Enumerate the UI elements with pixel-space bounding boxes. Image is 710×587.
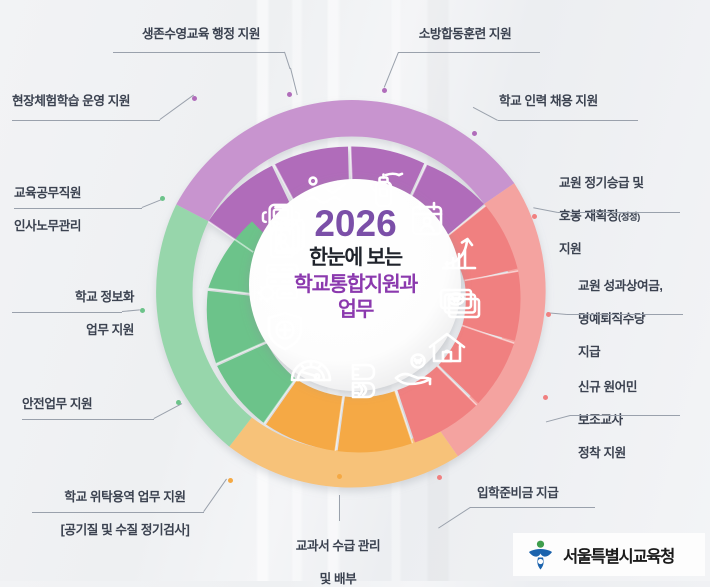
leader-dot-10 xyxy=(176,400,181,405)
leader-dot-1 xyxy=(287,92,292,97)
label-9-line2: [공기질 및 수질 정기검사] xyxy=(61,523,190,537)
label-12-line2: 인사노무관리 xyxy=(14,219,81,233)
label-textbook-supply: 교과서 수급 관리 및 배부 xyxy=(253,521,423,587)
logo-text: 서울특별시교육청 xyxy=(563,543,674,567)
label-5-line3: 지급 xyxy=(578,345,600,359)
label-safety-work: 안전업무 지원 xyxy=(22,396,162,413)
label-4-line2: 호봉 재획정 xyxy=(559,209,618,223)
leader-dot-7 xyxy=(437,475,442,480)
leader-line-10 xyxy=(22,419,154,420)
leader-line-8 xyxy=(339,495,340,521)
leader-dot-13 xyxy=(192,96,197,101)
leader-dot-11 xyxy=(140,308,145,313)
label-swimming-education: 생존수영교육 행정 지원 xyxy=(103,26,299,43)
label-6-line3: 정착 지원 xyxy=(578,446,626,460)
label-teacher-bonus: 교원 성과상여금, 명예퇴직수당 지급 xyxy=(578,261,710,361)
label-school-staff-hiring: 학교 인력 채용 지원 xyxy=(499,93,679,110)
leader-dot-2 xyxy=(382,88,387,93)
label-education-staff-hr: 교육공무직원 인사노무관리 xyxy=(14,168,154,234)
leader-line-6 xyxy=(570,415,680,416)
label-admission-fee: 입학준비금 지급 xyxy=(477,485,627,502)
leader-line-2 xyxy=(398,52,540,53)
leader-line-3 xyxy=(498,120,638,121)
leader-line-1b xyxy=(284,52,291,69)
leader-line-1 xyxy=(113,52,285,53)
label-4-sub: (정정) xyxy=(618,212,640,223)
label-5-line1: 교원 성과상여금, xyxy=(578,279,663,293)
leader-line-13 xyxy=(12,120,160,121)
center-line4: 업무 xyxy=(243,297,468,322)
label-11-line2: 업무 지원 xyxy=(86,323,134,337)
leader-dot-4 xyxy=(532,214,537,219)
label-6-line1: 신규 원어민 xyxy=(578,380,637,394)
label-12-line1: 교육공무직원 xyxy=(14,186,81,200)
label-4-line1: 교원 정기승급 및 xyxy=(559,176,644,190)
leader-line-2b xyxy=(384,52,399,88)
leader-dot-3 xyxy=(472,131,477,136)
center-line2: 한눈에 보는 xyxy=(243,243,468,273)
center-text: 2026 한눈에 보는 학교통합지원과 업무 xyxy=(243,205,468,322)
leader-dot-5 xyxy=(546,312,551,317)
leader-line-9 xyxy=(32,512,204,513)
leader-dot-12 xyxy=(160,196,165,201)
label-native-teacher-support: 신규 원어민 보조교사 정착 지원 xyxy=(578,362,706,462)
label-outsourced-services: 학교 위탁용역 업무 지원 [공기질 및 수질 정기검사] xyxy=(28,472,222,538)
center-year: 2026 xyxy=(243,205,468,243)
leader-line-11 xyxy=(12,312,122,313)
label-fire-drill: 소방합동훈련 지원 xyxy=(389,26,541,43)
seoul-education-office-logo-block: 서울특별시교육청 xyxy=(513,533,705,576)
leader-line-5 xyxy=(567,314,683,315)
label-4-line3: 지원 xyxy=(559,242,581,256)
leader-dot-9 xyxy=(228,478,233,483)
leader-line-7b xyxy=(438,507,471,529)
leader-dot-8 xyxy=(337,474,342,479)
label-8-line2: 및 배부 xyxy=(320,572,357,586)
label-8-line1: 교과서 수급 관리 xyxy=(296,539,381,553)
center-line3: 학교통합지원과 xyxy=(243,272,468,297)
label-teacher-salary-step: 교원 정기승급 및 호봉 재획정(정정) 지원 xyxy=(559,158,709,258)
leader-line-4 xyxy=(558,212,680,213)
leader-dot-6 xyxy=(543,395,548,400)
label-9-line1: 학교 위탁용역 업무 지원 xyxy=(64,490,185,504)
label-school-informatization: 학교 정보화 업무 지원 xyxy=(8,272,134,338)
leader-line-12 xyxy=(14,208,142,209)
label-11-line1: 학교 정보화 xyxy=(75,290,134,304)
seoul-education-office-logo xyxy=(527,540,555,570)
leader-line-7 xyxy=(470,507,595,508)
